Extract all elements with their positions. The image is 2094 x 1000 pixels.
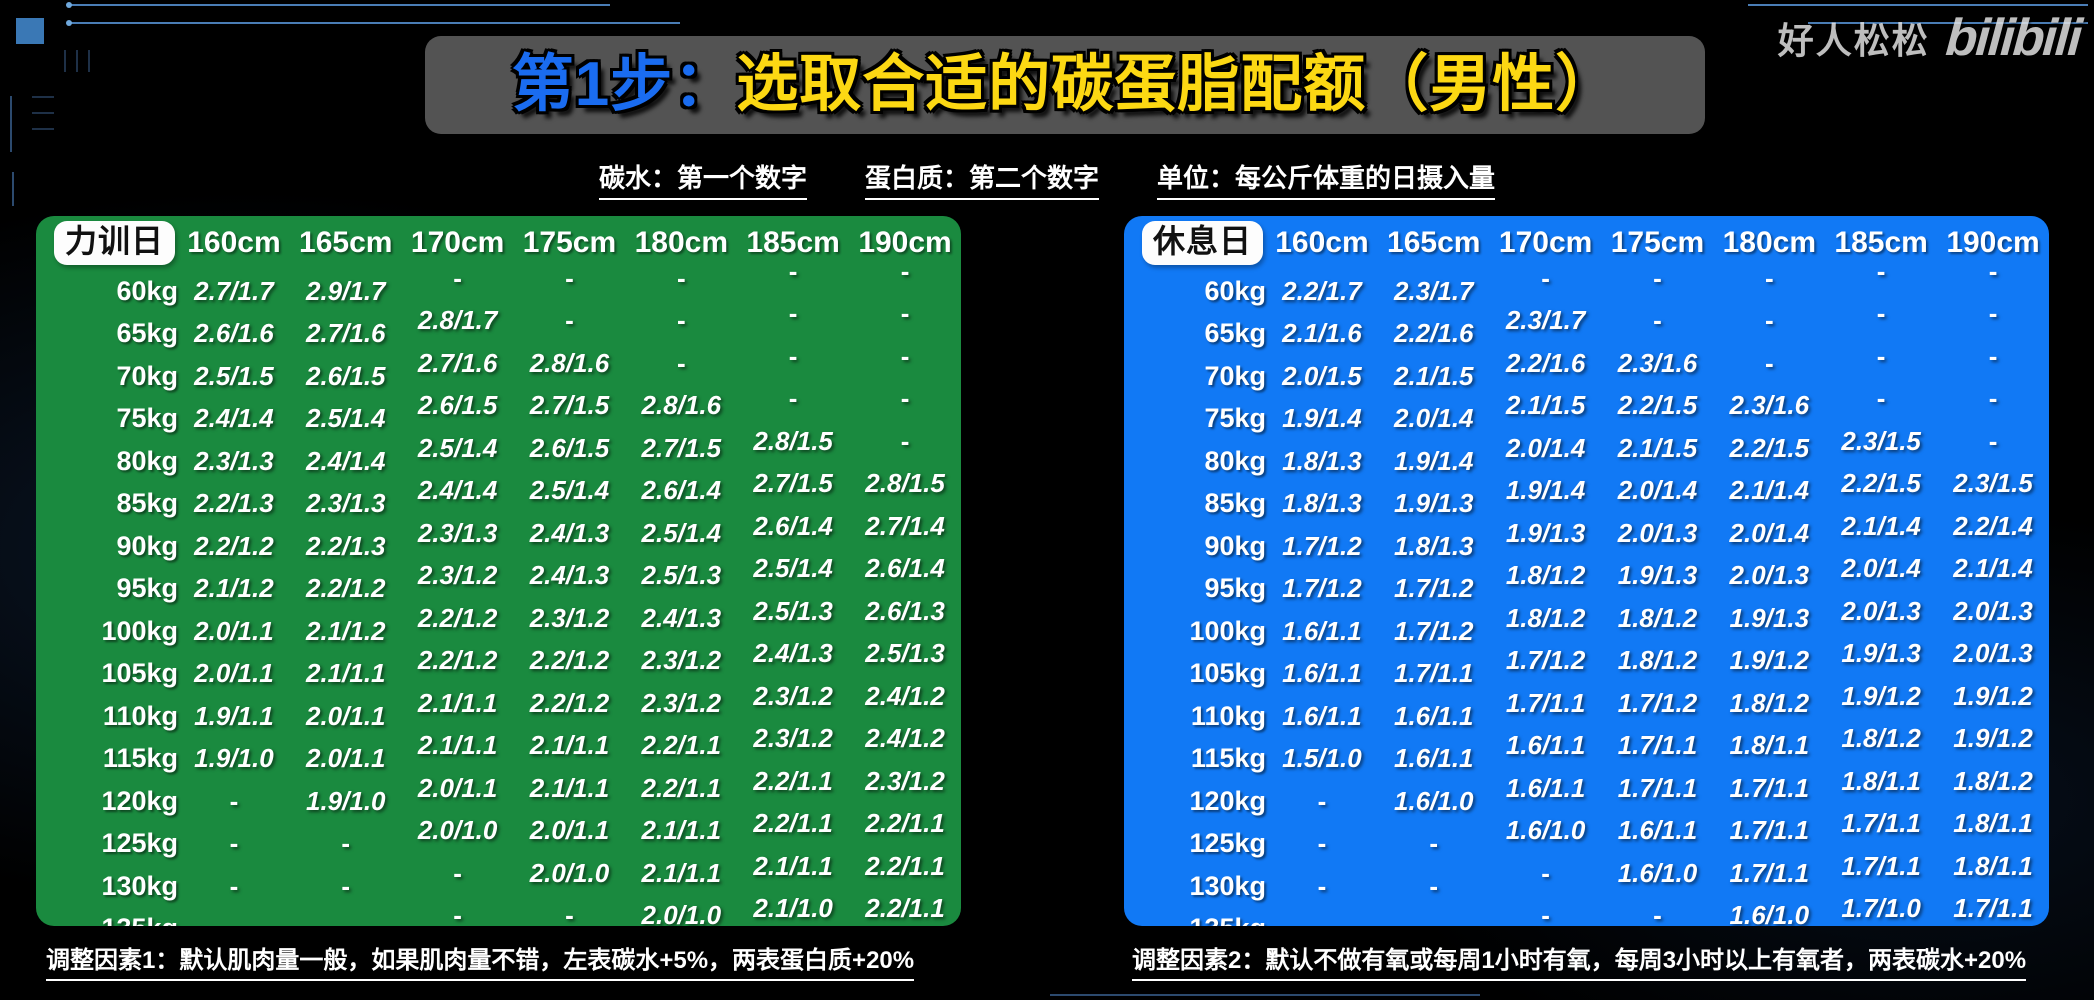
table-cell: 1.6/1.1 [1602,810,1714,853]
row-header-weight: 105kg [1124,653,1266,696]
table-cell: 1.7/1.1 [1825,803,1937,846]
deco-tick-group-top [64,50,66,72]
table-cell: 1.6/1.1 [1490,767,1602,810]
table-cell: 2.2/1.7 [1266,270,1378,313]
table-cell: 2.0/1.3 [1602,512,1714,555]
table-cell: - [737,293,849,336]
legend-row: 碳水：第一个数字 蛋白质：第二个数字 单位：每公斤体重的日摄入量 [0,158,2094,200]
table-cell: - [1378,908,1490,927]
table-cell: 2.3/1.2 [625,682,737,725]
table-cell: 2.5/1.4 [737,548,849,591]
table-cell: 2.1/1.6 [1266,313,1378,356]
table-cell: 2.1/1.2 [178,568,290,611]
table-cell: 1.8/1.2 [1937,760,2049,803]
table-cell: 2.0/1.5 [1266,355,1378,398]
table-cell: 1.9/1.3 [1602,555,1714,598]
column-header-165cm: 165cm [290,216,402,270]
table-cell: 1.8/1.3 [1378,525,1490,568]
table-cell: 2.5/1.4 [290,398,402,441]
watermark: 好人松松 bilibili [1778,8,2080,68]
table-cell: - [290,865,402,908]
table-cell: 2.8/1.6 [625,385,737,428]
table-cell: - [290,823,402,866]
table-cell: 2.0/1.4 [1490,427,1602,470]
table-cell: 1.7/1.2 [1378,568,1490,611]
row-header-weight: 85kg [1124,483,1266,526]
table-cell: 2.3/1.2 [737,675,849,718]
table-cell: 2.4/1.3 [737,633,849,676]
table-cell: 2.3/1.3 [402,512,514,555]
table-cell: 1.9/1.0 [178,738,290,781]
table-cell: 1.8/1.1 [1713,725,1825,768]
table-cell: - [1378,823,1490,866]
deco-dot-2 [66,20,72,26]
table-cell: - [1713,300,1825,343]
table-cell: 2.7/1.5 [514,385,626,428]
table-cell: 1.7/1.1 [1937,888,2049,927]
table-cell: 2.1/1.1 [514,725,626,768]
deco-line-right-1 [1748,4,2088,6]
table-cell: 2.3/1.7 [1490,300,1602,343]
table-cell: 1.6/1.0 [1713,895,1825,927]
table-cell: - [1937,335,2049,378]
table-cell: 2.1/1.5 [1378,355,1490,398]
table-cell: 2.7/1.5 [737,463,849,506]
table-cell: 2.5/1.4 [514,470,626,513]
table-cell: - [1825,250,1937,293]
legend-protein: 蛋白质：第二个数字 [865,158,1099,200]
deco-line-top-2 [70,22,680,24]
table-cell: 2.0/1.4 [1378,398,1490,441]
table-cell: 2.2/1.2 [514,682,626,725]
table-cell: 1.6/1.1 [1378,738,1490,781]
table-cell: 1.9/1.2 [1825,675,1937,718]
table-cell: 2.3/1.7 [1378,270,1490,313]
footnote-adjustment-1: 调整因素1：默认肌肉量一般，如果肌肉量不错，左表碳水+5%，两表蛋白质+20% [46,940,914,981]
table-cell: 1.6/1.1 [1490,725,1602,768]
table-cell: 1.8/1.2 [1490,597,1602,640]
table-cell: 2.2/1.5 [1602,385,1714,428]
table-cell: 2.1/1.5 [1490,385,1602,428]
table-cell: 2.2/1.5 [1825,463,1937,506]
deco-vline-left [10,96,12,152]
table-cell: 2.6/1.4 [625,470,737,513]
table-cell: 2.8/1.5 [737,420,849,463]
table-cell: 2.1/1.1 [290,653,402,696]
table-cell: 2.4/1.3 [625,597,737,640]
title-step-label: 第1步： [512,50,736,119]
table-cell: 1.7/1.1 [1602,725,1714,768]
table-cell: 2.3/1.5 [1825,420,1937,463]
table-cell: 2.0/1.4 [1602,470,1714,513]
table-cell: 2.5/1.3 [625,555,737,598]
table-cell: 2.5/1.3 [737,590,849,633]
table-cell: - [402,895,514,927]
table-cell: 2.0/1.1 [178,653,290,696]
table-row: 135kg----2.0/1.02.1/1.02.2/1.1 [36,908,961,927]
row-header-weight: 90kg [1124,525,1266,568]
deco-line-bottom [1050,994,1480,996]
table-cell: - [1937,378,2049,421]
table-cell: 1.7/1.2 [1266,525,1378,568]
table-cell: 2.1/1.1 [625,810,737,853]
table-cell: 2.9/1.7 [290,270,402,313]
table-cell: 2.6/1.4 [737,505,849,548]
table-cell: 1.8/1.3 [1266,440,1378,483]
table-cell: 2.0/1.1 [290,738,402,781]
table-cell: 2.3/1.2 [737,718,849,761]
watermark-username: 好人松松 [1778,12,1930,64]
table-cell: 1.7/1.1 [1825,845,1937,888]
table-cell: - [1937,420,2049,463]
table-cell: - [1602,895,1714,927]
row-header-weight: 65kg [1124,313,1266,356]
table-cell: 2.8/1.6 [514,342,626,385]
row-header-weight: 60kg [1124,270,1266,313]
bilibili-logo-icon: bilibili [1944,8,2082,68]
table-cell: - [1266,908,1378,927]
table-cell: 2.4/1.3 [514,555,626,598]
table-cell: 2.4/1.3 [514,512,626,555]
rest-day-table: 休息日160cm165cm170cm175cm180cm185cm190cm60… [1124,216,2049,926]
row-header-weight: 120kg [1124,780,1266,823]
table-cell: 1.6/1.1 [1266,610,1378,653]
table-cell: 1.7/1.2 [1266,568,1378,611]
strength-day-table: 力训日160cm165cm170cm175cm180cm185cm190cm60… [36,216,961,926]
table-cell: - [514,895,626,927]
table-cell: 2.6/1.5 [514,427,626,470]
table-cell: 2.4/1.4 [402,470,514,513]
table-cell: 1.9/1.2 [1937,718,2049,761]
row-header-weight: 135kg [36,908,178,927]
table-badge: 休息日 [1142,221,1263,265]
row-header-weight: 70kg [1124,355,1266,398]
row-header-weight: 80kg [1124,440,1266,483]
table-cell: 2.2/1.4 [1937,505,2049,548]
table-cell: 2.0/1.3 [1713,555,1825,598]
table-cell: 2.7/1.6 [290,313,402,356]
deco-tick-group-top3 [88,50,90,72]
table-cell: - [514,300,626,343]
table-cell: - [1266,780,1378,823]
table-badge: 力训日 [54,221,175,265]
table-cell: 2.1/1.1 [402,682,514,725]
table-cell: 2.2/1.3 [290,525,402,568]
table-cell: 2.1/1.1 [625,852,737,895]
row-header-weight: 70kg [36,355,178,398]
table-cell: - [849,335,961,378]
table-cell: 2.2/1.1 [849,803,961,846]
table-cell: 2.0/1.3 [1825,590,1937,633]
table-cell: 2.0/1.1 [178,610,290,653]
table-cell: 2.0/1.1 [402,767,514,810]
table-cell: 1.9/1.3 [1825,633,1937,676]
row-header-weight: 105kg [36,653,178,696]
table-cell: 1.6/1.1 [1378,695,1490,738]
table-cell: 1.9/1.0 [290,780,402,823]
table-cell: - [1266,823,1378,866]
table-cell: 2.1/1.4 [1937,548,2049,591]
table-cell: 1.7/1.2 [1490,640,1602,683]
row-header-weight: 60kg [36,270,178,313]
table-cell: 1.7/1.1 [1490,682,1602,725]
row-header-weight: 130kg [36,865,178,908]
table-cell: 1.6/1.1 [1266,653,1378,696]
table-row: 135kg----1.6/1.01.7/1.01.7/1.1 [1124,908,2049,927]
table-cell: 2.2/1.1 [625,725,737,768]
table-cell: 2.1/1.5 [1602,427,1714,470]
table-cell: 2.0/1.4 [1713,512,1825,555]
table-cell: - [1266,865,1378,908]
table-cell: 1.7/1.2 [1602,682,1714,725]
table-cell: 2.3/1.6 [1602,342,1714,385]
rest-day-table-panel: 休息日160cm165cm170cm175cm180cm185cm190cm60… [1124,216,2049,926]
table-cell: - [178,823,290,866]
table-cell: 2.3/1.2 [625,640,737,683]
table-cell: 2.5/1.3 [849,633,961,676]
table-cell: 2.7/1.7 [178,270,290,313]
table-cell: 2.0/1.1 [290,695,402,738]
deco-tick-row-2 [32,112,54,114]
deco-square [16,18,44,44]
table-cell: - [1825,335,1937,378]
table-cell: 1.7/1.0 [1825,888,1937,927]
table-cell: 2.2/1.1 [737,760,849,803]
table-cell: 2.0/1.3 [1937,633,2049,676]
table-cell: 1.9/1.3 [1378,483,1490,526]
row-header-weight: 130kg [1124,865,1266,908]
deco-tick-group-top2 [76,50,78,72]
table-cell: 2.2/1.1 [737,803,849,846]
table-cell: - [1937,250,2049,293]
table-cell: 2.3/1.3 [178,440,290,483]
row-header-weight: 110kg [1124,695,1266,738]
table-cell: 2.3/1.2 [849,760,961,803]
row-header-weight: 115kg [36,738,178,781]
table-cell: 1.6/1.0 [1490,810,1602,853]
table-cell: 1.6/1.0 [1378,780,1490,823]
table-cell: 1.7/1.1 [1713,810,1825,853]
column-header-160cm: 160cm [178,216,290,270]
table-cell: 2.0/1.0 [402,810,514,853]
title-banner: 第1步：选取合适的碳蛋脂配额（男性） [425,36,1705,134]
table-cell: 2.6/1.4 [849,548,961,591]
row-header-weight: 85kg [36,483,178,526]
table-cell: 2.2/1.3 [178,483,290,526]
footnote-adjustment-2: 调整因素2：默认不做有氧或每周1小时有氧，每周3小时以上有氧者，两表碳水+20% [1132,940,2026,981]
table-cell: 2.6/1.6 [178,313,290,356]
table-cell: 1.7/1.1 [1378,653,1490,696]
table-cell: - [625,257,737,300]
table-cell: 1.8/1.2 [1825,718,1937,761]
column-header-165cm: 165cm [1378,216,1490,270]
table-cell: 2.0/1.0 [514,852,626,895]
table-badge-cell: 力训日 [36,216,178,270]
column-header-160cm: 160cm [1266,216,1378,270]
table-badge-cell: 休息日 [1124,216,1266,270]
table-cell: 1.9/1.4 [1490,470,1602,513]
table-cell: 2.2/1.2 [514,640,626,683]
table-cell: - [1713,257,1825,300]
table-cell: - [849,293,961,336]
table-cell: - [849,420,961,463]
table-cell: 2.6/1.5 [402,385,514,428]
table-cell: 1.5/1.0 [1266,738,1378,781]
table-cell: - [1825,293,1937,336]
row-header-weight: 100kg [36,610,178,653]
row-header-weight: 95kg [1124,568,1266,611]
deco-line-top-1 [70,4,610,6]
table-cell: - [1713,342,1825,385]
row-header-weight: 135kg [1124,908,1266,927]
row-header-weight: 115kg [1124,738,1266,781]
deco-tick-row-3 [32,128,54,130]
table-cell: - [514,257,626,300]
title-main-label: 选取合适的碳蛋脂配额（男性） [736,50,1618,119]
table-cell: 1.9/1.1 [178,695,290,738]
table-cell: 2.4/1.2 [849,675,961,718]
table-cell: 2.3/1.3 [290,483,402,526]
table-cell: 1.8/1.2 [1713,682,1825,725]
table-cell: - [1490,257,1602,300]
table-cell: 2.5/1.4 [625,512,737,555]
table-cell: 2.3/1.6 [1713,385,1825,428]
table-cell: - [178,908,290,927]
table-cell: 2.2/1.6 [1490,342,1602,385]
table-cell: - [737,378,849,421]
table-cell: 2.2/1.5 [1713,427,1825,470]
table-cell: 2.4/1.2 [849,718,961,761]
strength-day-table-panel: 力训日160cm165cm170cm175cm180cm185cm190cm60… [36,216,961,926]
row-header-weight: 75kg [1124,398,1266,441]
table-cell: 2.3/1.5 [1937,463,2049,506]
table-cell: - [290,908,402,927]
table-cell: 2.1/1.4 [1825,505,1937,548]
table-cell: 2.8/1.7 [402,300,514,343]
table-cell: 1.8/1.1 [1825,760,1937,803]
table-cell: - [1602,300,1714,343]
table-cell: - [1937,293,2049,336]
table-cell: 1.6/1.1 [1266,695,1378,738]
table-cell: 1.8/1.2 [1602,640,1714,683]
table-cell: 2.1/1.1 [737,845,849,888]
table-cell: 1.9/1.4 [1378,440,1490,483]
legend-unit: 单位：每公斤体重的日摄入量 [1157,158,1495,200]
table-cell: 2.5/1.4 [402,427,514,470]
table-cell: 2.6/1.3 [849,590,961,633]
table-cell: 2.2/1.1 [849,888,961,927]
table-cell: 2.4/1.4 [290,440,402,483]
row-header-weight: 120kg [36,780,178,823]
deco-dot-1 [66,2,72,8]
table-cell: 1.9/1.2 [1937,675,2049,718]
table-cell: 2.2/1.1 [849,845,961,888]
table-cell: 2.0/1.4 [1825,548,1937,591]
table-cell: 2.7/1.4 [849,505,961,548]
table-cell: - [625,300,737,343]
row-header-weight: 65kg [36,313,178,356]
table-cell: - [1490,852,1602,895]
table-cell: 2.8/1.5 [849,463,961,506]
table-cell: 2.1/1.1 [402,725,514,768]
row-header-weight: 90kg [36,525,178,568]
table-cell: 1.8/1.2 [1490,555,1602,598]
table-cell: 2.7/1.5 [625,427,737,470]
table-cell: 1.7/1.2 [1378,610,1490,653]
table-cell: 1.9/1.3 [1713,597,1825,640]
table-cell: - [625,342,737,385]
table-cell: - [1825,378,1937,421]
page-title: 第1步：选取合适的碳蛋脂配额（男性） [512,54,1619,116]
table-cell: 2.7/1.6 [402,342,514,385]
table-cell: 2.2/1.2 [178,525,290,568]
table-cell: 1.6/1.0 [1602,852,1714,895]
table-cell: - [1490,895,1602,927]
row-header-weight: 110kg [36,695,178,738]
table-cell: 1.9/1.2 [1713,640,1825,683]
table-cell: 2.1/1.2 [290,610,402,653]
table-cell: 1.8/1.1 [1937,803,2049,846]
table-cell: 2.0/1.1 [514,810,626,853]
table-cell: 2.6/1.5 [290,355,402,398]
table-cell: 2.3/1.2 [402,555,514,598]
deco-tick-row-1 [32,96,54,98]
row-header-weight: 100kg [1124,610,1266,653]
row-header-weight: 80kg [36,440,178,483]
table-cell: 2.1/1.4 [1713,470,1825,513]
table-cell: 2.2/1.2 [290,568,402,611]
row-header-weight: 75kg [36,398,178,441]
table-cell: 2.1/1.0 [737,888,849,927]
table-cell: - [737,250,849,293]
table-cell: 2.5/1.5 [178,355,290,398]
table-cell: 2.0/1.3 [1937,590,2049,633]
legend-carbs: 碳水：第一个数字 [599,158,807,200]
table-cell: - [849,378,961,421]
table-cell: 2.0/1.0 [625,895,737,927]
table-cell: 1.8/1.2 [1602,597,1714,640]
table-cell: 2.3/1.2 [514,597,626,640]
table-cell: 1.9/1.3 [1490,512,1602,555]
slide-canvas: 好人松松 bilibili 第1步：选取合适的碳蛋脂配额（男性） 碳水：第一个数… [0,0,2094,1000]
table-cell: 2.1/1.1 [514,767,626,810]
table-cell: - [178,865,290,908]
table-cell: 2.2/1.6 [1378,313,1490,356]
table-cell: 1.7/1.1 [1602,767,1714,810]
row-header-weight: 125kg [36,823,178,866]
table-cell: - [1602,257,1714,300]
table-cell: 1.7/1.1 [1713,852,1825,895]
table-cell: - [402,257,514,300]
table-cell: - [1378,865,1490,908]
table-cell: - [849,250,961,293]
table-cell: 1.8/1.1 [1937,845,2049,888]
table-cell: - [402,852,514,895]
table-cell: 1.8/1.3 [1266,483,1378,526]
table-cell: 2.2/1.2 [402,597,514,640]
row-header-weight: 95kg [36,568,178,611]
table-cell: 2.2/1.1 [625,767,737,810]
table-cell: 1.7/1.1 [1713,767,1825,810]
table-cell: 1.9/1.4 [1266,398,1378,441]
table-cell: 2.4/1.4 [178,398,290,441]
row-header-weight: 125kg [1124,823,1266,866]
table-cell: 2.2/1.2 [402,640,514,683]
table-cell: - [737,335,849,378]
table-cell: - [178,780,290,823]
